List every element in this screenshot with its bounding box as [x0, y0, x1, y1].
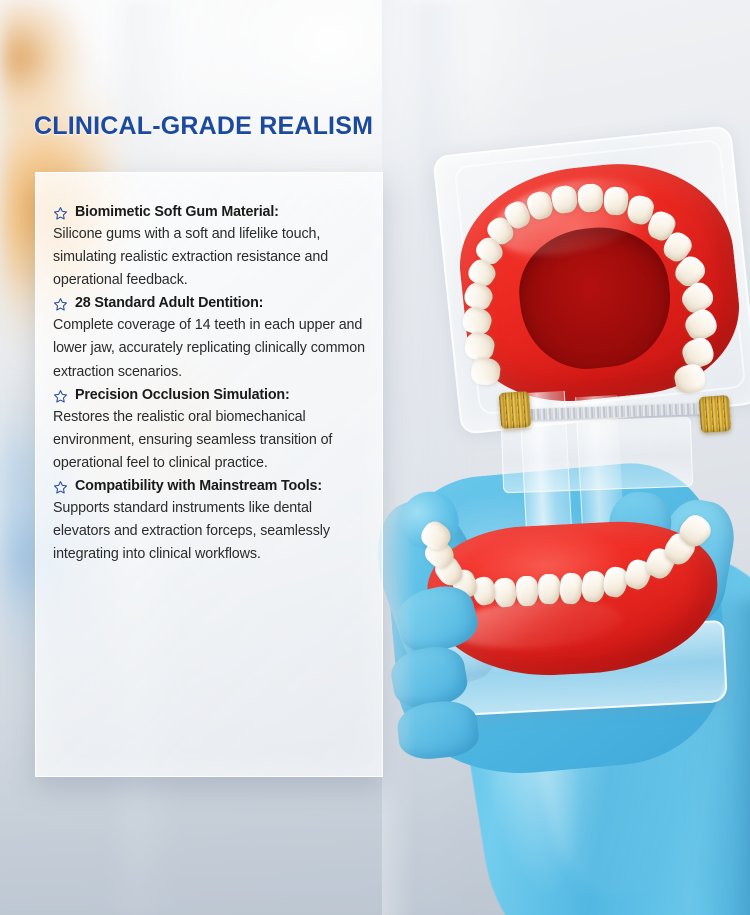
feature-heading: Biomimetic Soft Gum Material:: [53, 203, 366, 222]
feature-title: Compatibility with Mainstream Tools:: [75, 477, 322, 496]
feature-card: Biomimetic Soft Gum Material: Silicone g…: [35, 172, 383, 777]
feature-item: Precision Occlusion Simulation: Restores…: [53, 386, 366, 475]
star-icon: [53, 297, 68, 312]
feature-heading: Precision Occlusion Simulation:: [53, 386, 366, 405]
feature-body: Silicone gums with a soft and lifelike t…: [53, 223, 366, 292]
star-icon: [53, 206, 68, 221]
tooth-upper: [577, 183, 603, 212]
promo-banner: CLINICAL-GRADE REALISM Biomimetic Soft G…: [0, 0, 750, 915]
feature-heading: Compatibility with Mainstream Tools:: [53, 477, 366, 496]
page-title: CLINICAL-GRADE REALISM: [34, 112, 373, 141]
gold-thumbscrew-left: [499, 391, 531, 429]
gold-thumbscrew-right: [699, 395, 731, 433]
feature-heading: 28 Standard Adult Dentition:: [53, 294, 366, 313]
feature-body: Supports standard instruments like denta…: [53, 497, 366, 566]
feature-title: Biomimetic Soft Gum Material:: [75, 203, 279, 222]
feature-item: Biomimetic Soft Gum Material: Silicone g…: [53, 203, 366, 292]
star-icon: [53, 389, 68, 404]
feature-item: Compatibility with Mainstream Tools: Sup…: [53, 477, 366, 566]
star-icon: [53, 480, 68, 495]
feature-title: Precision Occlusion Simulation:: [75, 386, 290, 405]
feature-title: 28 Standard Adult Dentition:: [75, 294, 263, 313]
feature-item: 28 Standard Adult Dentition: Complete co…: [53, 294, 366, 383]
acrylic-bracket: [501, 417, 693, 494]
feature-body: Restores the realistic oral biomechanica…: [53, 406, 366, 475]
feature-body: Complete coverage of 14 teeth in each up…: [53, 314, 366, 383]
